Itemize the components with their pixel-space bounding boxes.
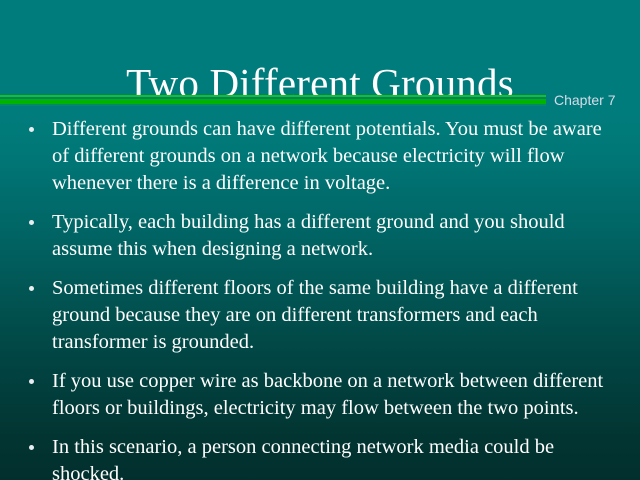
- list-item-text: Sometimes different floors of the same b…: [52, 275, 618, 356]
- bullet-dot-icon: [29, 220, 34, 225]
- bullet-dot-icon: [29, 127, 34, 132]
- bullet-list: Different grounds can have different pot…: [0, 116, 640, 480]
- title-divider-rule: [0, 95, 546, 106]
- list-item-text: In this scenario, a person connecting ne…: [52, 434, 618, 480]
- list-item: In this scenario, a person connecting ne…: [0, 434, 640, 480]
- list-item: If you use copper wire as backbone on a …: [0, 368, 640, 422]
- bullet-dot-icon: [29, 379, 34, 384]
- list-item-text: Typically, each building has a different…: [52, 209, 618, 263]
- presentation-slide: Two Different Grounds Chapter 7 Differen…: [0, 0, 640, 480]
- list-item: Different grounds can have different pot…: [0, 116, 640, 197]
- bullet-dot-icon: [29, 445, 34, 450]
- list-item: Sometimes different floors of the same b…: [0, 275, 640, 356]
- list-item: Typically, each building has a different…: [0, 209, 640, 263]
- list-item-text: If you use copper wire as backbone on a …: [52, 368, 618, 422]
- list-item-text: Different grounds can have different pot…: [52, 116, 618, 197]
- chapter-label: Chapter 7: [554, 91, 615, 109]
- bullet-dot-icon: [29, 286, 34, 291]
- divider-line-shadow: [0, 104, 546, 106]
